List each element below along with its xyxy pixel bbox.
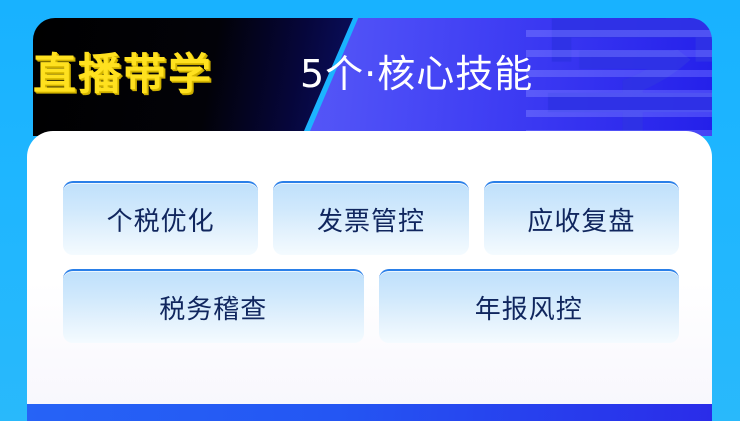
banner-subtitle: 5个·核心技能 (300, 43, 533, 98)
skill-card-personal-tax[interactable]: 个税优化 (63, 181, 258, 255)
skill-card-label: 个税优化 (107, 201, 215, 238)
skill-card-annual-report-risk[interactable]: 年报风控 (379, 269, 680, 343)
skill-card-label: 年报风控 (475, 289, 583, 326)
skill-card-row-2: 税务稽查 年报风控 (63, 269, 679, 343)
content-panel: 个税优化 发票管控 应收复盘 税务稽查 年报风控 (27, 131, 712, 405)
poster-stage: 学 直播带学 5个·核心技能 个税优化 发票管控 应收复盘 税务 (0, 0, 740, 421)
skill-card-tax-audit[interactable]: 税务稽查 (63, 269, 364, 343)
skill-card-receivables-review[interactable]: 应收复盘 (484, 181, 679, 255)
bottom-accent-bar (27, 404, 712, 421)
skill-card-invoice-control[interactable]: 发票管控 (273, 181, 468, 255)
skill-card-label: 税务稽查 (159, 289, 267, 326)
brand-title: 直播带学 (33, 40, 283, 102)
skill-card-grid: 个税优化 发票管控 应收复盘 税务稽查 年报风控 (63, 181, 679, 357)
skill-card-label: 发票管控 (317, 201, 425, 238)
skill-card-label: 应收复盘 (527, 201, 635, 238)
watermark-character: 学 (540, 18, 712, 136)
skill-card-row-1: 个税优化 发票管控 应收复盘 (63, 181, 679, 255)
